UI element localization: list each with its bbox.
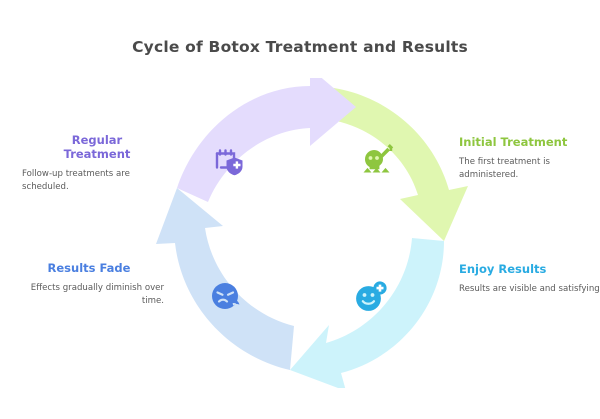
page-title: Cycle of Botox Treatment and Results [0, 38, 600, 56]
step-body-enjoy: Results are visible and satisfying. [459, 283, 600, 296]
infographic-page: Cycle of Botox Treatment and Results [0, 0, 600, 419]
smiley-sparkle-icon [354, 280, 388, 314]
cycle-diagram [150, 78, 470, 388]
step-body-fade: Effects gradually diminish over time. [14, 282, 164, 307]
step-heading-regular-line1: Regular [72, 133, 122, 147]
step-heading-regular-line2: Treatment [64, 147, 131, 161]
step-heading-fade: Results Fade [14, 261, 164, 275]
calendar-shield-plus-icon [212, 144, 246, 178]
step-block-fade: Results Fade Effects gradually diminish … [14, 261, 164, 307]
fading-face-icon [209, 280, 243, 314]
step-body-initial: The first treatment is administered. [459, 156, 600, 181]
step-block-enjoy: Enjoy Results Results are visible and sa… [459, 262, 600, 296]
step-heading-regular: Regular Treatment [22, 133, 172, 161]
face-injection-icon [361, 143, 395, 177]
step-block-initial: Initial Treatment The first treatment is… [459, 135, 600, 181]
step-heading-initial: Initial Treatment [459, 135, 600, 149]
step-block-regular: Regular Treatment Follow-up treatments a… [22, 133, 172, 193]
shield-shape [227, 158, 243, 176]
step-heading-enjoy: Enjoy Results [459, 262, 600, 276]
step-body-regular: Follow-up treatments are scheduled. [22, 168, 172, 193]
